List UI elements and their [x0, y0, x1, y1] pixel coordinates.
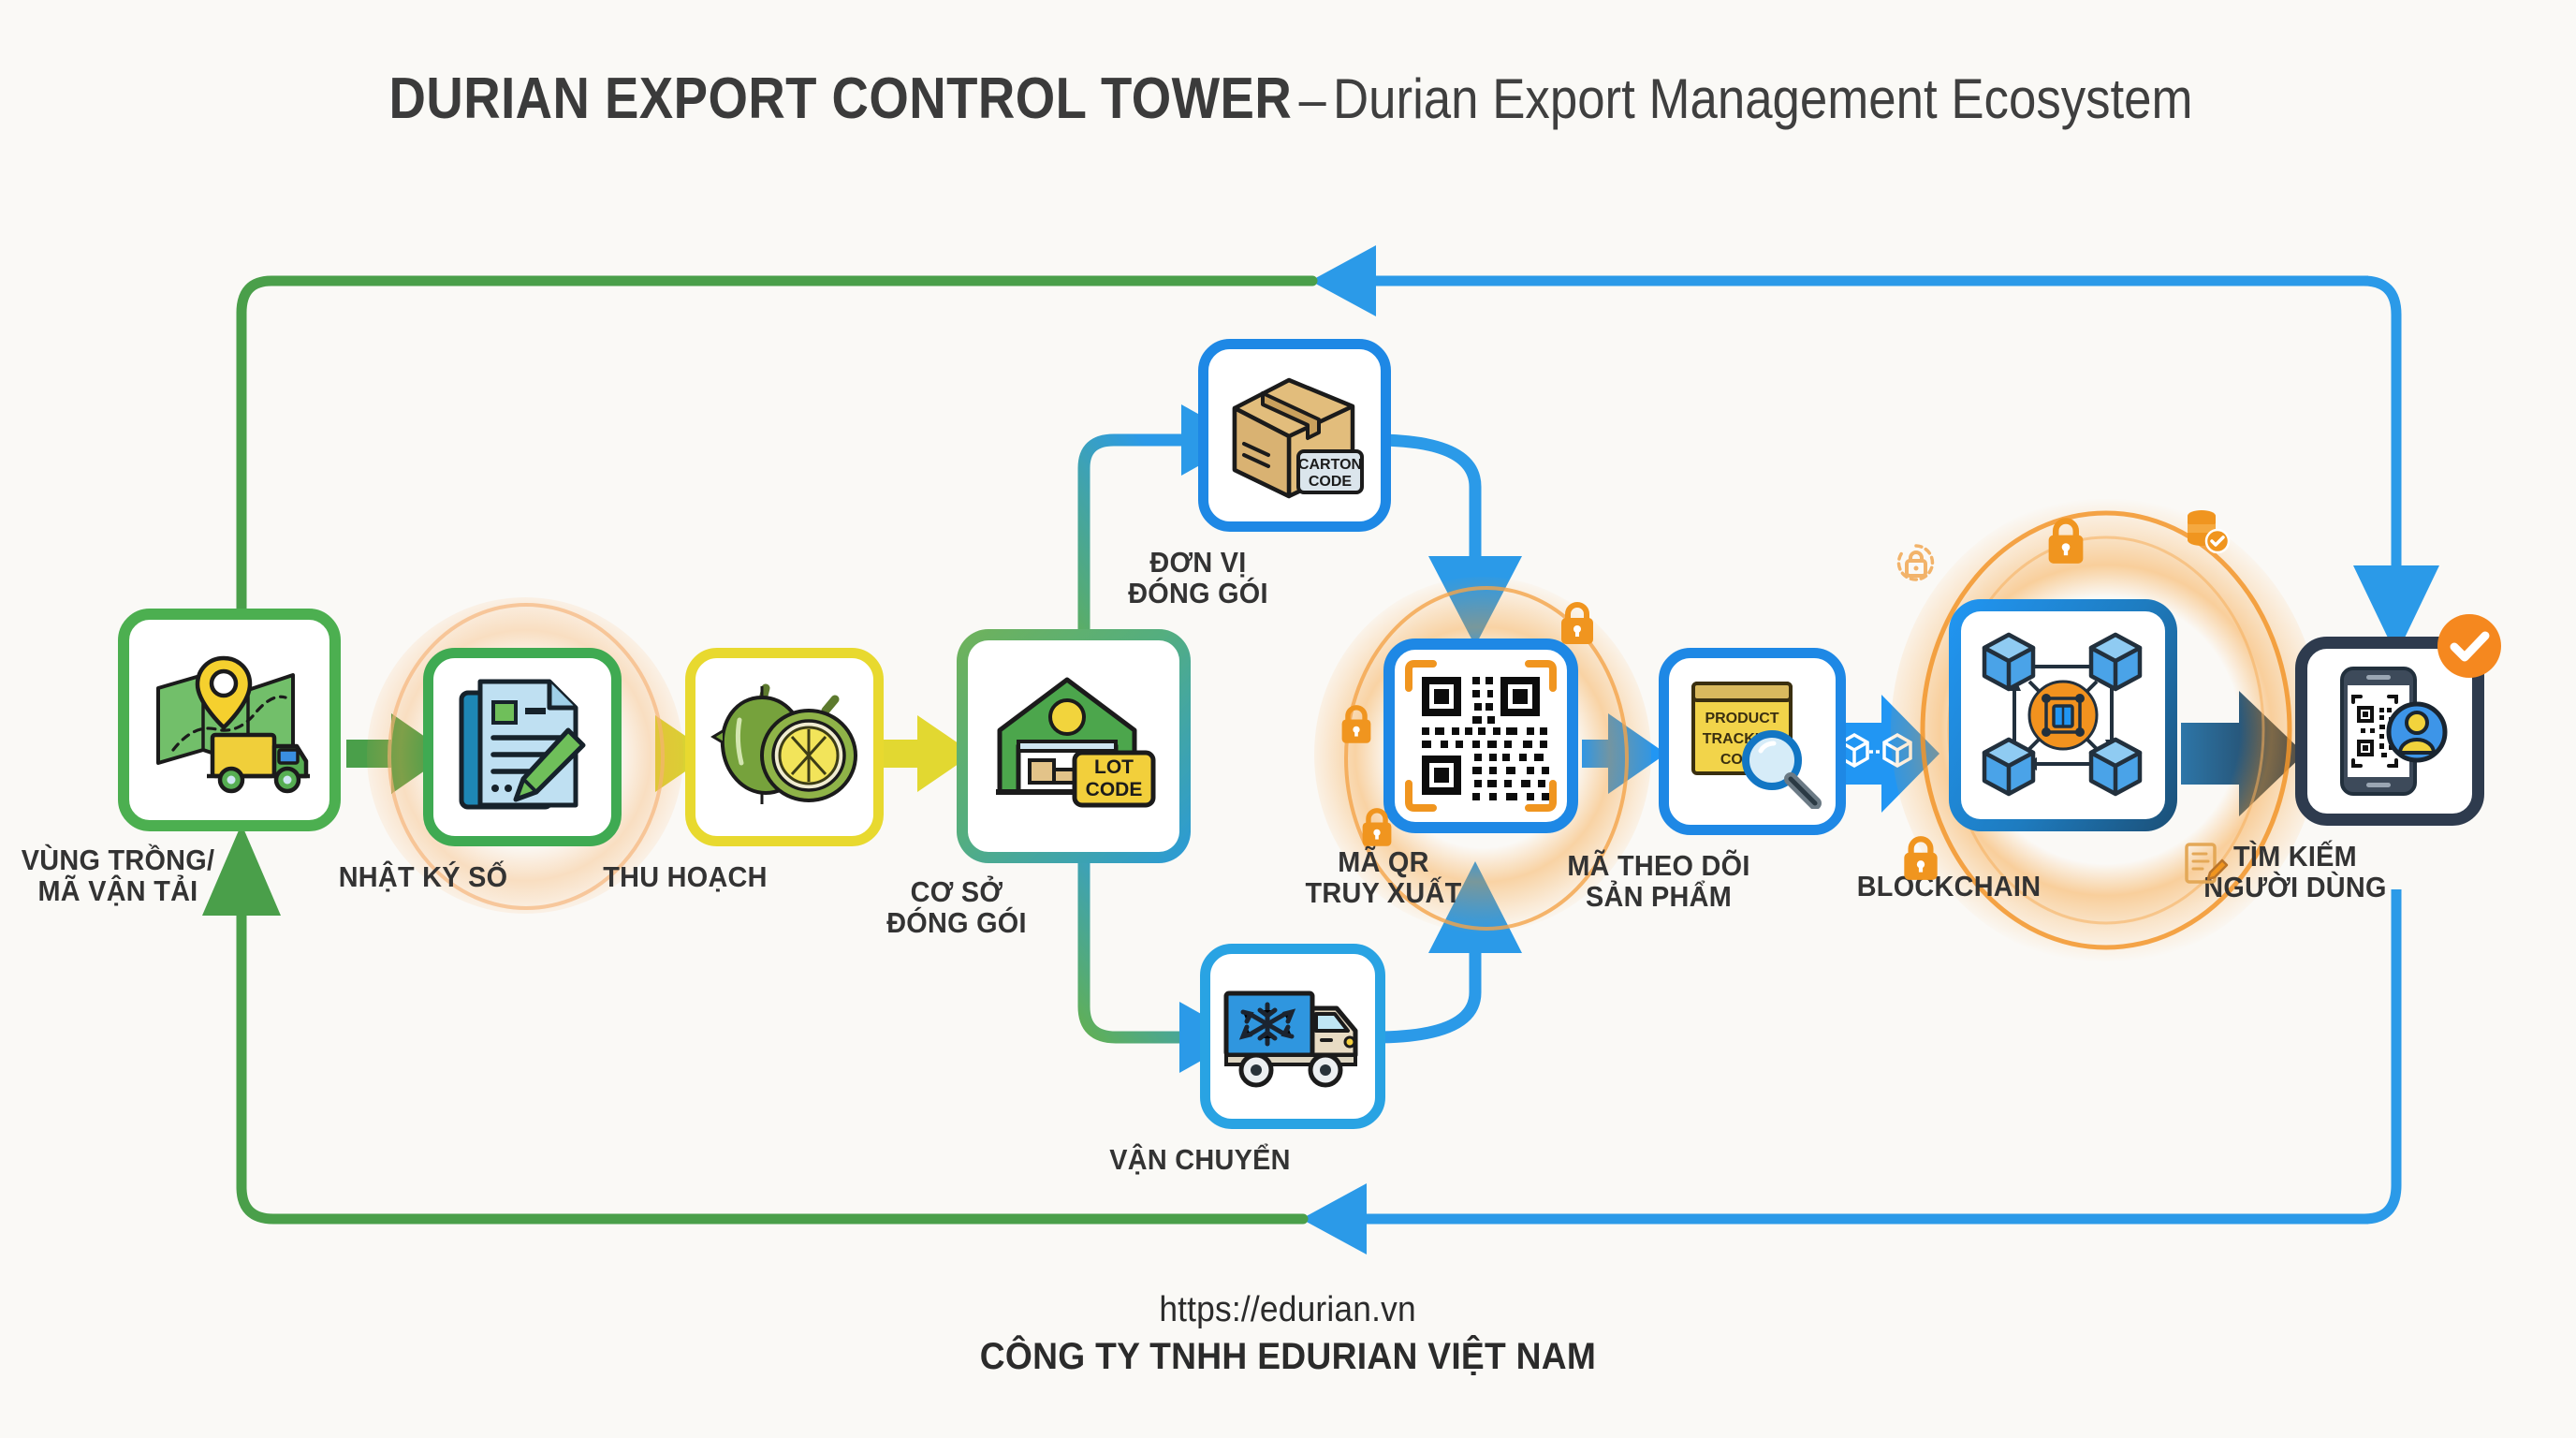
packing-facility-label-2: ĐÓNG GÓI [809, 907, 1105, 938]
qr-traceability-box[interactable] [1383, 638, 1578, 833]
digital-diary-label-1: NHẬT KÝ SỐ [284, 861, 563, 892]
packing-facility-label-1: CƠ SỞ [809, 876, 1105, 907]
digital-diary-box[interactable] [423, 648, 622, 846]
tracking-code-magnifier-icon: PRODUCT TRACKING CODE [1682, 674, 1822, 809]
packing-facility-box[interactable]: LOT CODE [957, 629, 1191, 863]
product-tracking-box[interactable]: PRODUCT TRACKING CODE [1659, 648, 1846, 835]
growing-area-box[interactable] [118, 609, 341, 831]
padlock-icon-blockchain-top [2044, 515, 2087, 565]
padlock-icon-qr-left [1339, 702, 1374, 745]
rotating-lock-icon [1895, 541, 1938, 584]
footer: https://edurian.vn CÔNG TY TNHH EDURIAN … [0, 1290, 2576, 1378]
carton-code-text-1: CARTON [1298, 457, 1362, 473]
transport-label-1: VẬN CHUYỂN [1061, 1144, 1339, 1175]
lot-code-text-1: LOT [1094, 756, 1134, 778]
blockchain-caption: BLOCKCHAIN [1771, 871, 2127, 902]
connector-layer [0, 0, 2576, 1438]
transport-caption: VẬN CHUYỂN [1050, 1144, 1350, 1175]
padlock-icon-qr-bottom [1359, 805, 1395, 848]
footer-company: CÔNG TY TNHH EDURIAN VIỆT NAM [0, 1336, 2576, 1378]
title-primary: DURIAN EXPORT CONTROL TOWER [388, 66, 1292, 132]
packing-facility-caption: CƠ SỞ ĐÓNG GÓI [798, 876, 1116, 939]
packing-unit-label-2: ĐÓNG GÓI [1059, 578, 1338, 609]
growing-area-caption: VÙNG TRỒNG/ MÃ VẬN TẢI [0, 844, 296, 907]
transport-box[interactable] [1200, 944, 1385, 1129]
arrow-blockchain-to-user [2181, 691, 2305, 816]
harvest-label-1: THU HOẠCH [546, 861, 825, 892]
carton-code-text-2: CODE [1309, 474, 1353, 490]
packing-unit-box[interactable]: CARTON CODE [1198, 339, 1391, 532]
map-truck-icon [145, 645, 314, 795]
coin-stack-check-icon [2179, 504, 2232, 556]
packing-unit-caption: ĐƠN VỊ ĐÓNG GÓI [1048, 547, 1348, 609]
blockchain-cubes-icon [1971, 624, 2155, 807]
growing-area-label-2: MÃ VẬN TẢI [0, 875, 284, 906]
harvest-box[interactable] [685, 648, 884, 846]
orange-check-icon [2432, 609, 2507, 683]
cube-link-icon [1841, 735, 1910, 766]
refrigerated-truck-icon [1219, 980, 1367, 1093]
lot-code-text-2: CODE [1086, 779, 1143, 800]
arrow-qr-to-tracking [1582, 713, 1666, 794]
signed-document-icon [2181, 841, 2230, 891]
blockchain-box[interactable] [1949, 599, 2177, 831]
title-separator: – [1294, 68, 1331, 131]
document-pencil-icon [456, 676, 589, 818]
padlock-icon-blockchain-bottomleft [1900, 833, 1941, 882]
blockchain-label-1: BLOCKCHAIN [1783, 871, 2114, 902]
user-lookup-caption: TÌM KIẾM NGƯỜI DÙNG [2127, 841, 2464, 903]
qr-code-icon [1403, 658, 1559, 814]
warehouse-lotcode-icon: LOT CODE [987, 667, 1161, 826]
padlock-icon-qr-top [1558, 599, 1597, 646]
packing-unit-label-1: ĐƠN VỊ [1059, 547, 1338, 578]
page-title: DURIAN EXPORT CONTROL TOWER–Durian Expor… [0, 66, 2576, 132]
tracking-text-1: PRODUCT [1705, 711, 1778, 726]
growing-area-label-1: VÙNG TRỒNG/ [0, 844, 284, 875]
digital-diary-caption: NHẬT KÝ SỐ [273, 861, 573, 892]
carton-box-icon: CARTON CODE [1220, 365, 1369, 506]
durian-fruit-icon [708, 677, 861, 817]
title-secondary: Durian Export Management Ecosystem [1333, 66, 2193, 131]
harvest-caption: THU HOẠCH [535, 861, 835, 892]
arrow-packing-unit-to-qr [1374, 440, 1522, 646]
footer-url[interactable]: https://edurian.vn [0, 1290, 2576, 1330]
